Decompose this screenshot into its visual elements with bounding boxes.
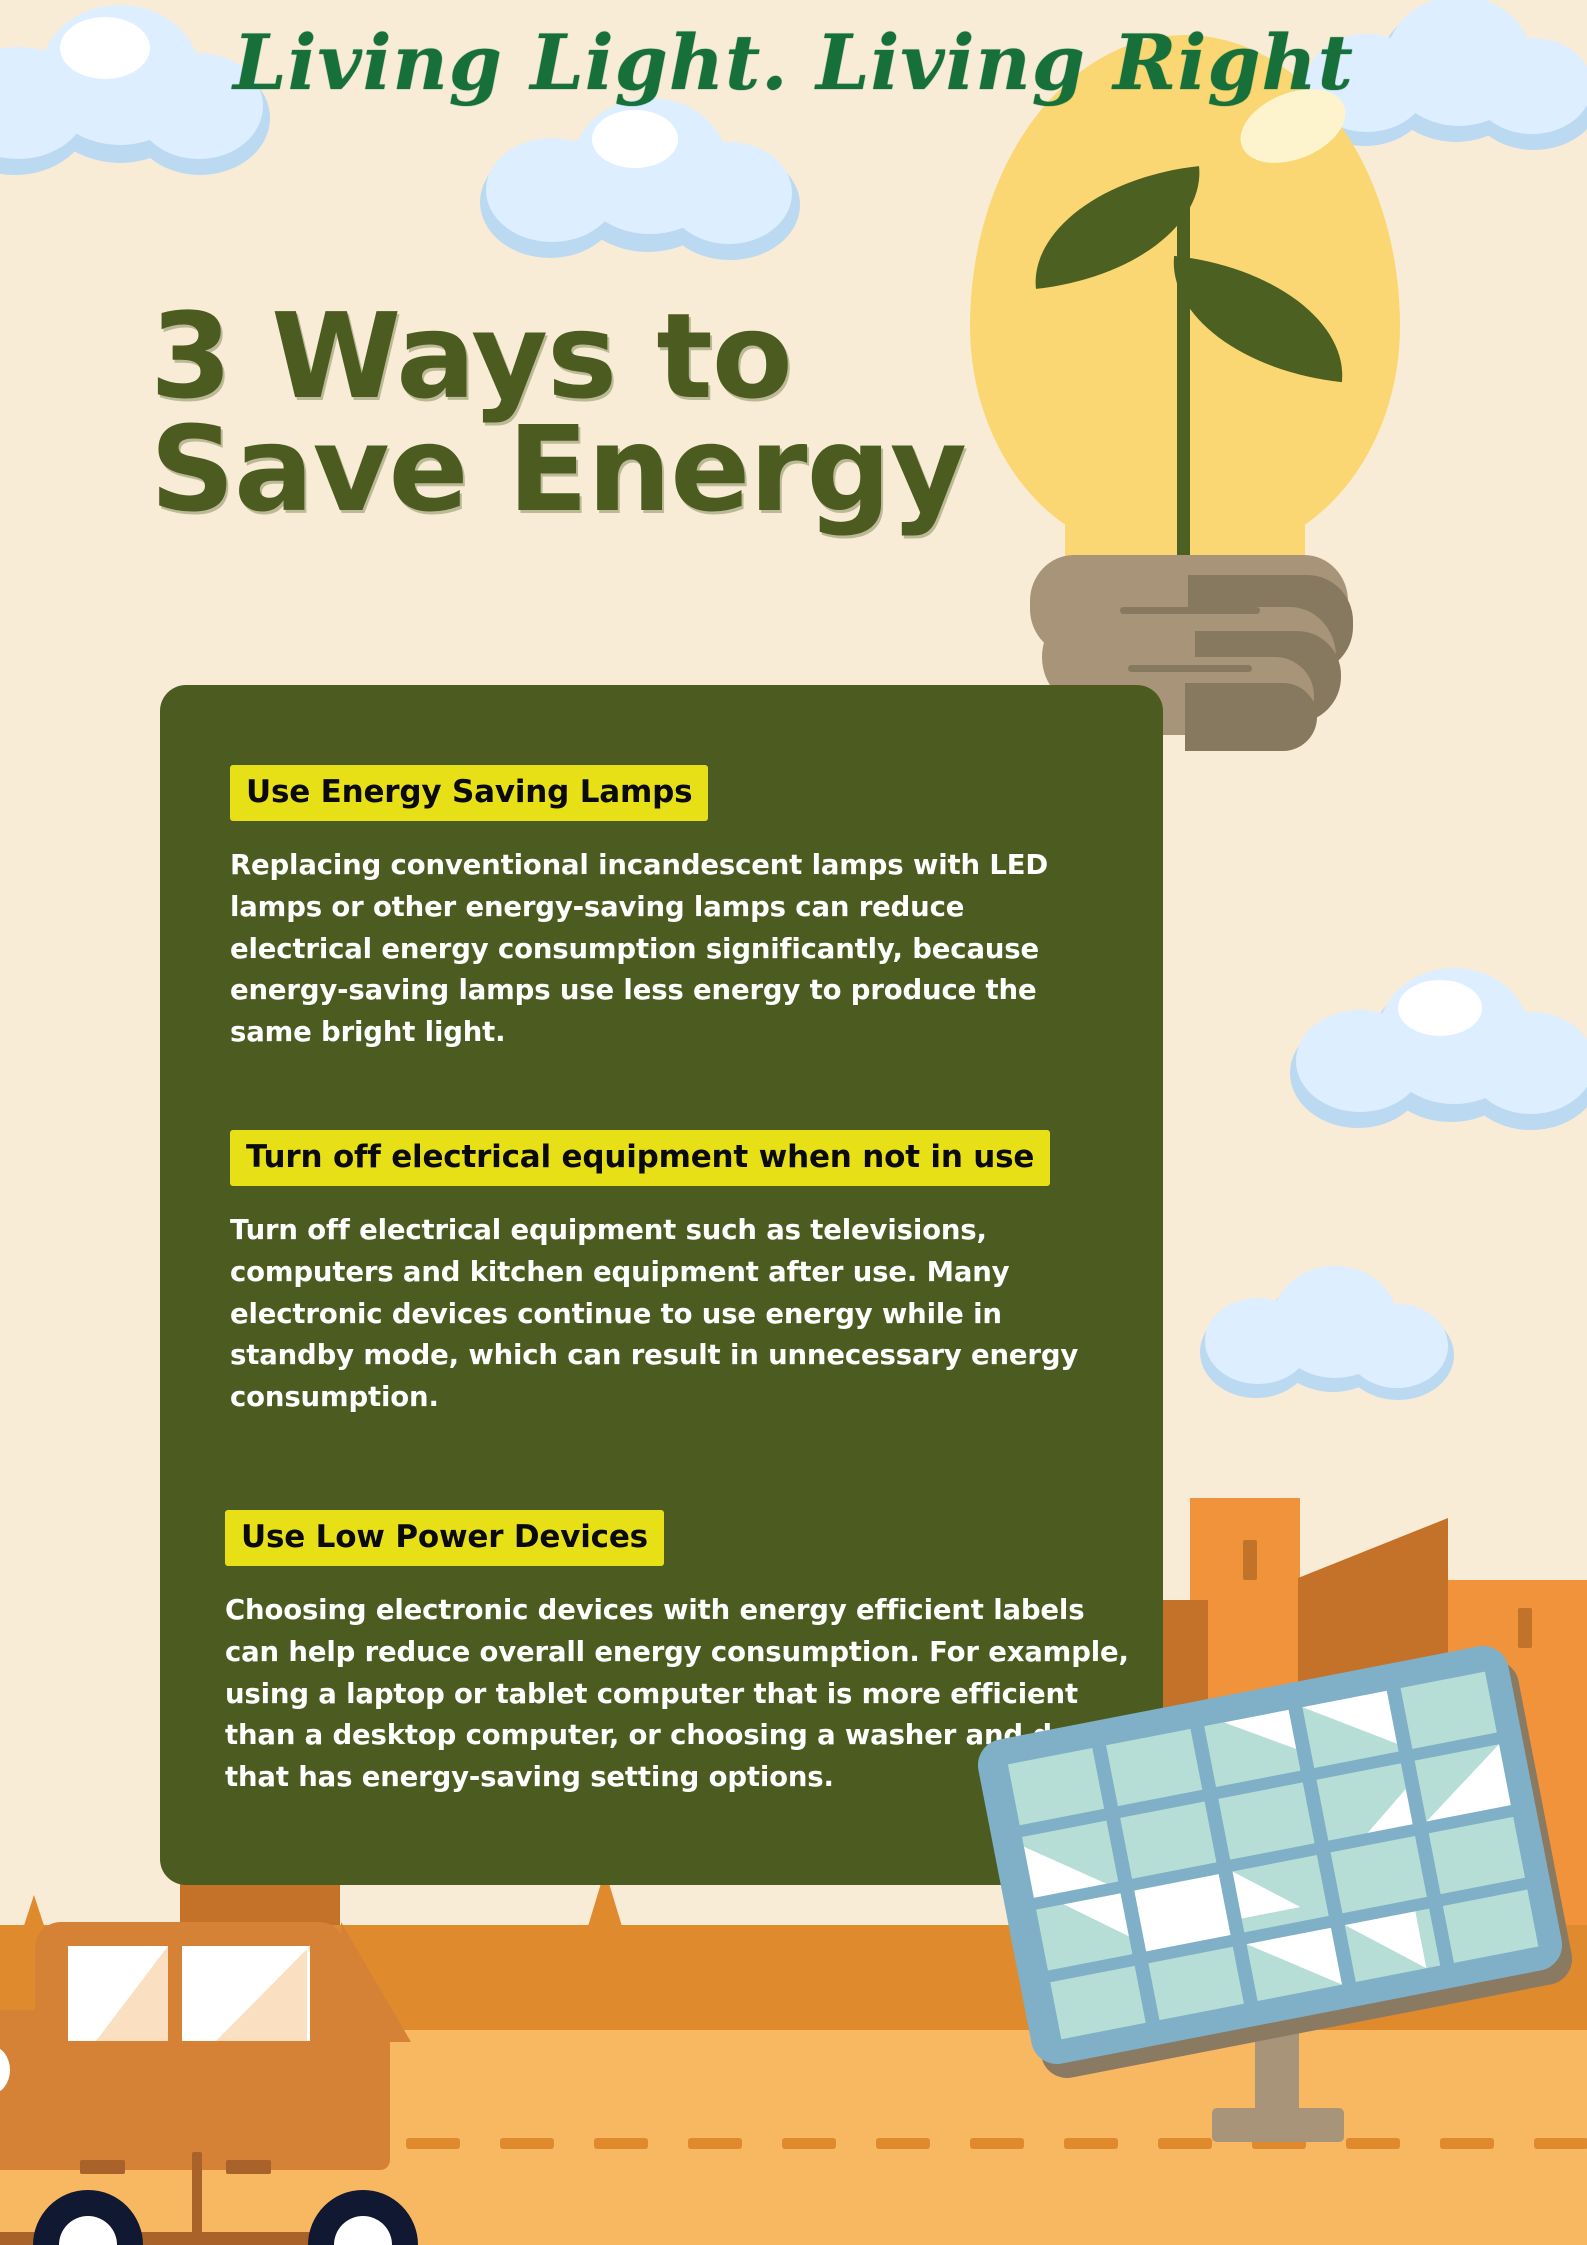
solar-panel-board — [973, 1642, 1566, 2069]
page-title: 3 Ways to Save Energy — [150, 300, 966, 527]
car-door-handle — [80, 2160, 125, 2174]
tip-2-body: Turn off electrical equipment such as te… — [230, 1210, 1110, 1419]
headline-line-1: 3 Ways to — [150, 300, 966, 413]
car-wheel — [308, 2190, 418, 2245]
solar-panel-foot — [1212, 2108, 1344, 2142]
lightbulb-with-plant-icon — [970, 35, 1450, 725]
car-window — [68, 1946, 168, 2041]
bulb-base-shade — [1185, 683, 1317, 751]
tip-section-1: Use Energy Saving Lamps Replacing conven… — [230, 765, 1233, 1054]
cloud-icon — [480, 88, 810, 268]
solar-panel-icon — [1000, 1690, 1560, 2160]
infographic-poster: Living Light. Living Right 3 Ways to Sav… — [0, 0, 1587, 2245]
car-door-handle — [226, 2160, 271, 2174]
tip-1-badge: Use Energy Saving Lamps — [230, 765, 708, 821]
plant-stem — [1177, 185, 1190, 585]
poster-script-title: Living Light. Living Right — [0, 18, 1587, 107]
tip-2-badge: Turn off electrical equipment when not i… — [230, 1130, 1050, 1186]
cloud-icon — [1200, 1260, 1450, 1405]
window — [1518, 1608, 1532, 1648]
window — [1243, 1540, 1257, 1580]
tip-1-body: Replacing conventional incandescent lamp… — [230, 845, 1110, 1054]
car-window — [182, 1946, 310, 2041]
bulb-base-groove — [1120, 607, 1260, 614]
car-wheel — [33, 2190, 143, 2245]
car-door-seam — [192, 2152, 202, 2238]
car-icon — [0, 1900, 430, 2230]
bulb-base-groove — [1128, 665, 1252, 672]
headline-line-2: Save Energy — [150, 413, 966, 526]
tip-section-2: Turn off electrical equipment when not i… — [230, 1130, 1233, 1419]
cloud-icon — [1290, 960, 1587, 1140]
tip-3-badge: Use Low Power Devices — [225, 1510, 664, 1566]
